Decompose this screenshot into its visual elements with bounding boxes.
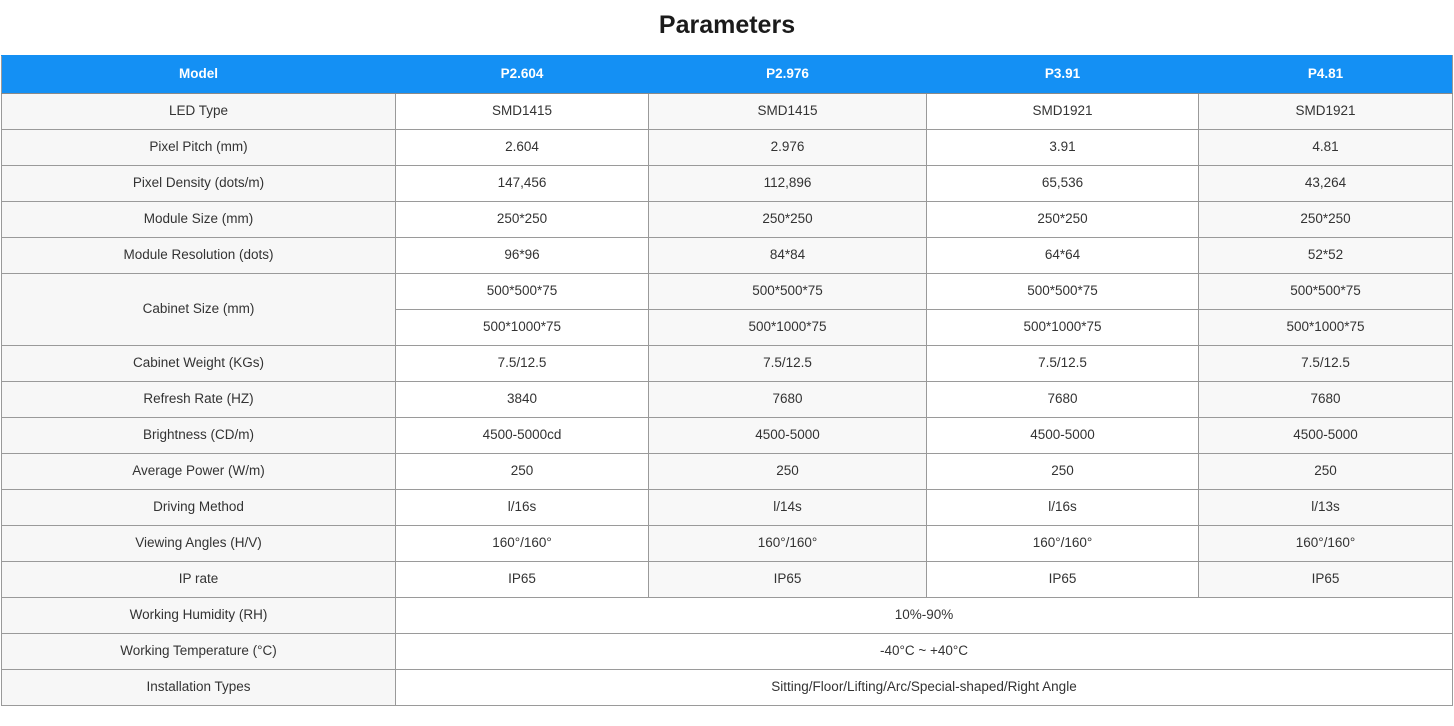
cell-value: IP65 bbox=[396, 562, 649, 598]
cell-value: 500*1000*75 bbox=[649, 310, 927, 346]
cell-value: 7.5/12.5 bbox=[396, 346, 649, 382]
cell-value: 7680 bbox=[649, 382, 927, 418]
table-row: Module Size (mm)250*250250*250250*250250… bbox=[2, 202, 1453, 238]
row-label: Pixel Density (dots/m) bbox=[2, 166, 396, 202]
cell-value: l/16s bbox=[927, 490, 1199, 526]
row-label: Brightness (CD/m) bbox=[2, 418, 396, 454]
table-row: Working Temperature (°C)-40°C ~ +40°C bbox=[2, 634, 1453, 670]
row-label: Refresh Rate (HZ) bbox=[2, 382, 396, 418]
cell-value: 250*250 bbox=[649, 202, 927, 238]
cell-value: 4500-5000 bbox=[1199, 418, 1453, 454]
row-label: Working Temperature (°C) bbox=[2, 634, 396, 670]
cell-value: 250 bbox=[927, 454, 1199, 490]
cell-value: IP65 bbox=[649, 562, 927, 598]
cell-value: 250 bbox=[396, 454, 649, 490]
table-row: Installation TypesSitting/Floor/Lifting/… bbox=[2, 670, 1453, 706]
cell-value: l/13s bbox=[1199, 490, 1453, 526]
table-row: Pixel Pitch (mm)2.6042.9763.914.81 bbox=[2, 130, 1453, 166]
cell-value: 250 bbox=[1199, 454, 1453, 490]
cell-value: 160°/160° bbox=[1199, 526, 1453, 562]
cell-value: l/16s bbox=[396, 490, 649, 526]
cell-value: 147,456 bbox=[396, 166, 649, 202]
cell-value: 2.604 bbox=[396, 130, 649, 166]
row-label: Average Power (W/m) bbox=[2, 454, 396, 490]
cell-value: 250*250 bbox=[396, 202, 649, 238]
cell-value: 500*500*75 bbox=[927, 274, 1199, 310]
cell-value: 250*250 bbox=[927, 202, 1199, 238]
row-label: Viewing Angles (H/V) bbox=[2, 526, 396, 562]
column-header-model: Model bbox=[2, 56, 396, 94]
table-row: Viewing Angles (H/V)160°/160°160°/160°16… bbox=[2, 526, 1453, 562]
cell-value: IP65 bbox=[927, 562, 1199, 598]
cell-value: SMD1921 bbox=[927, 94, 1199, 130]
cell-value: 7680 bbox=[1199, 382, 1453, 418]
cell-value: 7.5/12.5 bbox=[1199, 346, 1453, 382]
cell-value: 43,264 bbox=[1199, 166, 1453, 202]
cell-value: 4.81 bbox=[1199, 130, 1453, 166]
cell-value: 7.5/12.5 bbox=[927, 346, 1199, 382]
cell-value: 2.976 bbox=[649, 130, 927, 166]
cell-value: 112,896 bbox=[649, 166, 927, 202]
cell-value: 500*500*75 bbox=[649, 274, 927, 310]
cell-value: 160°/160° bbox=[396, 526, 649, 562]
column-header-p2976: P2.976 bbox=[649, 56, 927, 94]
page-title-bar: Parameters bbox=[0, 0, 1454, 55]
column-header-p391: P3.91 bbox=[927, 56, 1199, 94]
cell-value: 7.5/12.5 bbox=[649, 346, 927, 382]
cell-value: l/14s bbox=[649, 490, 927, 526]
row-label: Module Size (mm) bbox=[2, 202, 396, 238]
table-row: Pixel Density (dots/m)147,456112,89665,5… bbox=[2, 166, 1453, 202]
cell-value: 500*1000*75 bbox=[396, 310, 649, 346]
row-label: IP rate bbox=[2, 562, 396, 598]
cell-value: 500*1000*75 bbox=[1199, 310, 1453, 346]
table-row: Brightness (CD/m)4500-5000cd4500-5000450… bbox=[2, 418, 1453, 454]
row-label: Driving Method bbox=[2, 490, 396, 526]
cell-value-merged: -40°C ~ +40°C bbox=[396, 634, 1453, 670]
cell-value: 500*500*75 bbox=[1199, 274, 1453, 310]
cell-value: 4500-5000 bbox=[927, 418, 1199, 454]
cell-value: 500*1000*75 bbox=[927, 310, 1199, 346]
table-row: Cabinet Weight (KGs)7.5/12.57.5/12.57.5/… bbox=[2, 346, 1453, 382]
cell-value: 3.91 bbox=[927, 130, 1199, 166]
table-row: Driving Methodl/16sl/14sl/16sl/13s bbox=[2, 490, 1453, 526]
table-row: Working Humidity (RH)10%-90% bbox=[2, 598, 1453, 634]
table-header: Model P2.604 P2.976 P3.91 P4.81 bbox=[2, 56, 1453, 94]
cell-value: 64*64 bbox=[927, 238, 1199, 274]
table-row: Module Resolution (dots)96*9684*8464*645… bbox=[2, 238, 1453, 274]
cell-value: SMD1921 bbox=[1199, 94, 1453, 130]
cell-value-merged: Sitting/Floor/Lifting/Arc/Special-shaped… bbox=[396, 670, 1453, 706]
table-row: Average Power (W/m)250250250250 bbox=[2, 454, 1453, 490]
row-label: Cabinet Size (mm) bbox=[2, 274, 396, 346]
cell-value: 160°/160° bbox=[927, 526, 1199, 562]
cell-value: 250 bbox=[649, 454, 927, 490]
table-header-row: Model P2.604 P2.976 P3.91 P4.81 bbox=[2, 56, 1453, 94]
cell-value: 500*500*75 bbox=[396, 274, 649, 310]
cell-value: 4500-5000 bbox=[649, 418, 927, 454]
table-row: IP rateIP65IP65IP65IP65 bbox=[2, 562, 1453, 598]
row-label: Cabinet Weight (KGs) bbox=[2, 346, 396, 382]
table-body: LED TypeSMD1415SMD1415SMD1921SMD1921Pixe… bbox=[2, 94, 1453, 706]
cell-value: 65,536 bbox=[927, 166, 1199, 202]
cell-value: 7680 bbox=[927, 382, 1199, 418]
cell-value: 4500-5000cd bbox=[396, 418, 649, 454]
cell-value: 250*250 bbox=[1199, 202, 1453, 238]
row-label: LED Type bbox=[2, 94, 396, 130]
cell-value-merged: 10%-90% bbox=[396, 598, 1453, 634]
cell-value: 84*84 bbox=[649, 238, 927, 274]
cell-value: 96*96 bbox=[396, 238, 649, 274]
table-row: LED TypeSMD1415SMD1415SMD1921SMD1921 bbox=[2, 94, 1453, 130]
row-label: Module Resolution (dots) bbox=[2, 238, 396, 274]
table-row: Refresh Rate (HZ)3840768076807680 bbox=[2, 382, 1453, 418]
row-label: Pixel Pitch (mm) bbox=[2, 130, 396, 166]
row-label: Installation Types bbox=[2, 670, 396, 706]
table-row: Cabinet Size (mm)500*500*75500*500*75500… bbox=[2, 274, 1453, 310]
cell-value: SMD1415 bbox=[396, 94, 649, 130]
cell-value: 52*52 bbox=[1199, 238, 1453, 274]
column-header-p2604: P2.604 bbox=[396, 56, 649, 94]
page-title: Parameters bbox=[659, 13, 795, 38]
cell-value: 3840 bbox=[396, 382, 649, 418]
cell-value: IP65 bbox=[1199, 562, 1453, 598]
column-header-p481: P4.81 bbox=[1199, 56, 1453, 94]
row-label: Working Humidity (RH) bbox=[2, 598, 396, 634]
cell-value: 160°/160° bbox=[649, 526, 927, 562]
cell-value: SMD1415 bbox=[649, 94, 927, 130]
parameters-page: Parameters Model P2.604 P2.976 P3.91 P4.… bbox=[0, 0, 1454, 726]
parameters-table: Model P2.604 P2.976 P3.91 P4.81 LED Type… bbox=[1, 55, 1453, 706]
